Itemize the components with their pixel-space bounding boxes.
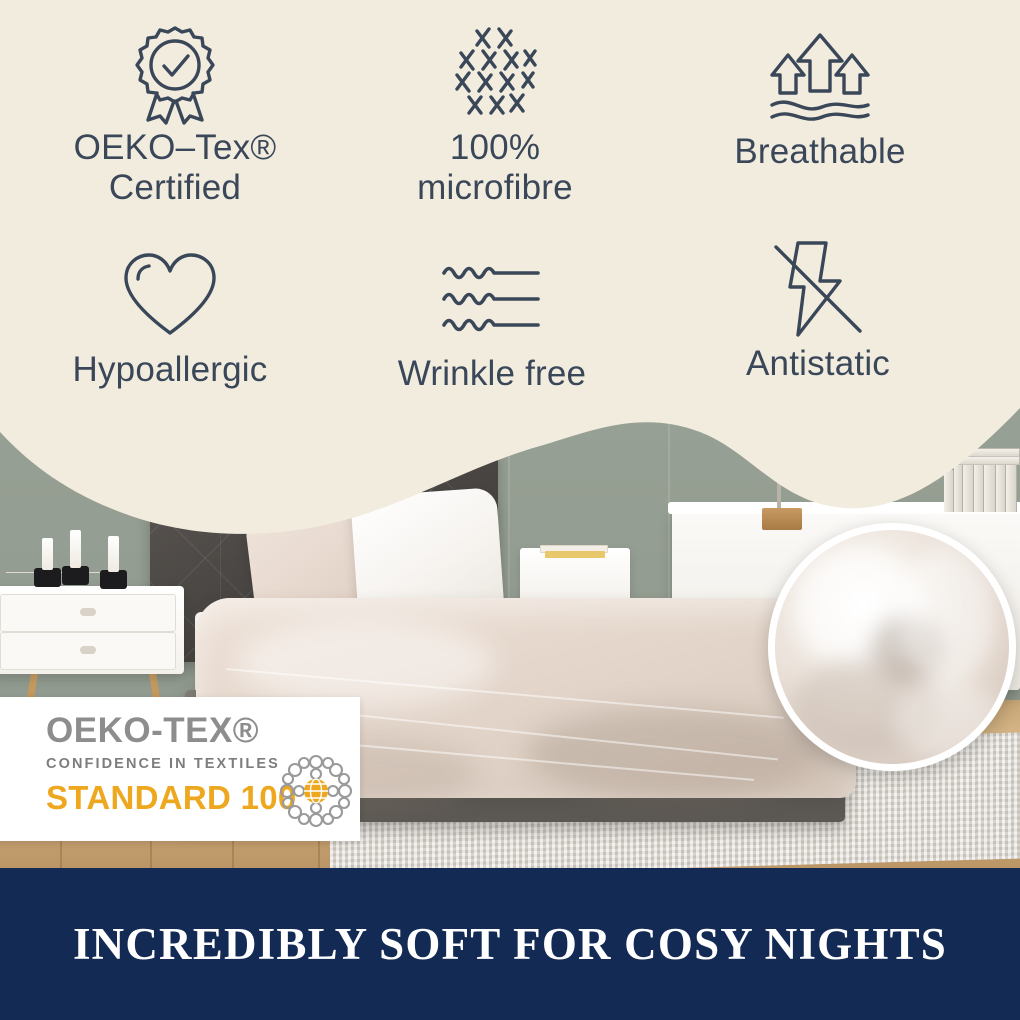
award-ribbon-icon	[25, 18, 325, 128]
breathable-arrows-icon	[670, 22, 970, 132]
feature-label: Wrinkle free	[342, 354, 642, 394]
feature-label: OEKO–Tex® Certified	[25, 128, 325, 208]
feature-label: Antistatic	[668, 344, 968, 384]
feature-label: Breathable	[670, 132, 970, 172]
fabric-closeup-circle	[768, 523, 1016, 771]
feature-antistatic: Antistatic	[668, 234, 968, 384]
badge-subtitle: CONFIDENCE IN TEXTILES	[46, 757, 294, 772]
feature-100-microfibre: 100% microfibre	[345, 18, 645, 208]
feature-grid: OEKO–Tex® Certified	[0, 0, 1020, 420]
wood-lamp-base	[762, 508, 802, 530]
product-feature-image: OEKO–Tex® Certified	[0, 0, 1020, 1020]
oeko-tex-standard-100-badge: OEKO-TEX® CONFIDENCE IN TEXTILES STANDAR…	[0, 697, 360, 841]
heart-icon	[20, 240, 320, 350]
badge-title: OEKO-TEX®	[46, 713, 294, 748]
feature-label: Hypoallergic	[20, 350, 320, 390]
oeko-tex-emblem-icon	[278, 753, 354, 829]
feature-oeko-tex-certified: OEKO–Tex® Certified	[25, 18, 325, 208]
wrinkle-free-lines-icon	[342, 244, 642, 354]
feature-wrinkle-free: Wrinkle free	[342, 244, 642, 394]
feature-hypoallergic: Hypoallergic	[20, 240, 320, 390]
antistatic-bolt-icon	[668, 234, 968, 344]
banner-headline: INCREDIBLY SOFT FOR COSY NIGHTS	[73, 918, 947, 970]
feature-label: 100% microfibre	[345, 128, 645, 208]
bottom-banner: INCREDIBLY SOFT FOR COSY NIGHTS	[0, 868, 1020, 1020]
badge-standard: STANDARD 100	[46, 781, 294, 814]
left-nightstand	[0, 586, 184, 674]
weave-pattern-icon	[345, 18, 645, 128]
feature-breathable: Breathable	[670, 22, 970, 172]
